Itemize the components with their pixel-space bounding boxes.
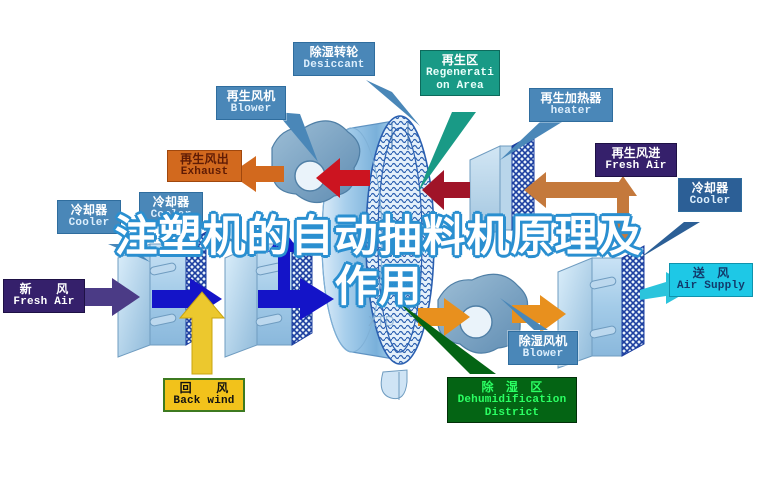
diagram-canvas: XTD	[0, 0, 757, 488]
title-line-2: 作用	[0, 262, 757, 312]
label-regeneration-area: 再生区 Regenerati on Area	[420, 50, 500, 96]
label-regen-fresh-air-cn: 再生风进	[600, 147, 672, 160]
label-exhaust-cn: 再生风出	[172, 153, 237, 166]
label-back-wind: 回 风 Back wind	[163, 378, 245, 412]
title-line-1: 注塑机的自动抽料机原理及	[0, 212, 757, 262]
label-regen-fresh-air: 再生风进 Fresh Air	[595, 143, 677, 177]
arrow-regen-heater	[524, 172, 623, 208]
label-regen-fresh-air-en: Fresh Air	[600, 160, 672, 172]
rotor-watermark: XTD	[368, 315, 395, 330]
label-dehumid-district-en2: District	[452, 407, 572, 419]
label-dehumid-blower-en: Blower	[513, 348, 573, 360]
label-dehumid-district-en1: Dehumidification	[452, 394, 572, 406]
label-cooler-middle-cn: 冷却器	[144, 196, 198, 209]
title-watermark: 注塑机的自动抽料机原理及 作用	[0, 212, 757, 312]
label-exhaust: 再生风出 Exhaust	[167, 150, 242, 182]
label-regen-heater-en: heater	[534, 105, 608, 117]
label-regen-heater-cn: 再生加热器	[534, 92, 608, 105]
label-dehumid-district-cn: 除 湿 区	[452, 381, 572, 394]
label-regen-blower: 再生风机 Blower	[216, 86, 286, 120]
label-desiccant: 除湿转轮 Desiccant	[293, 42, 375, 76]
label-cooler-right: 冷却器 Cooler	[678, 178, 742, 212]
label-regeneration-area-cn: 再生区	[424, 54, 496, 67]
label-desiccant-en: Desiccant	[298, 59, 370, 71]
regen-blower-unit	[272, 121, 360, 203]
label-dehumid-blower-cn: 除湿风机	[513, 335, 573, 348]
label-regen-blower-en: Blower	[221, 103, 281, 115]
label-regen-blower-cn: 再生风机	[221, 90, 281, 103]
label-regeneration-area-en1: Regenerati	[424, 67, 496, 79]
label-regeneration-area-en2: on Area	[424, 80, 496, 92]
label-dehumid-blower: 除湿风机 Blower	[508, 331, 578, 365]
label-back-wind-cn: 回 风	[169, 382, 239, 395]
label-dehumidification-district: 除 湿 区 Dehumidification District	[447, 377, 577, 423]
label-cooler-right-cn: 冷却器	[683, 182, 737, 195]
label-exhaust-en: Exhaust	[172, 166, 237, 178]
label-regen-heater: 再生加热器 heater	[529, 88, 613, 122]
label-desiccant-cn: 除湿转轮	[298, 46, 370, 59]
label-back-wind-en: Back wind	[169, 395, 239, 407]
label-cooler-right-en: Cooler	[683, 195, 737, 207]
